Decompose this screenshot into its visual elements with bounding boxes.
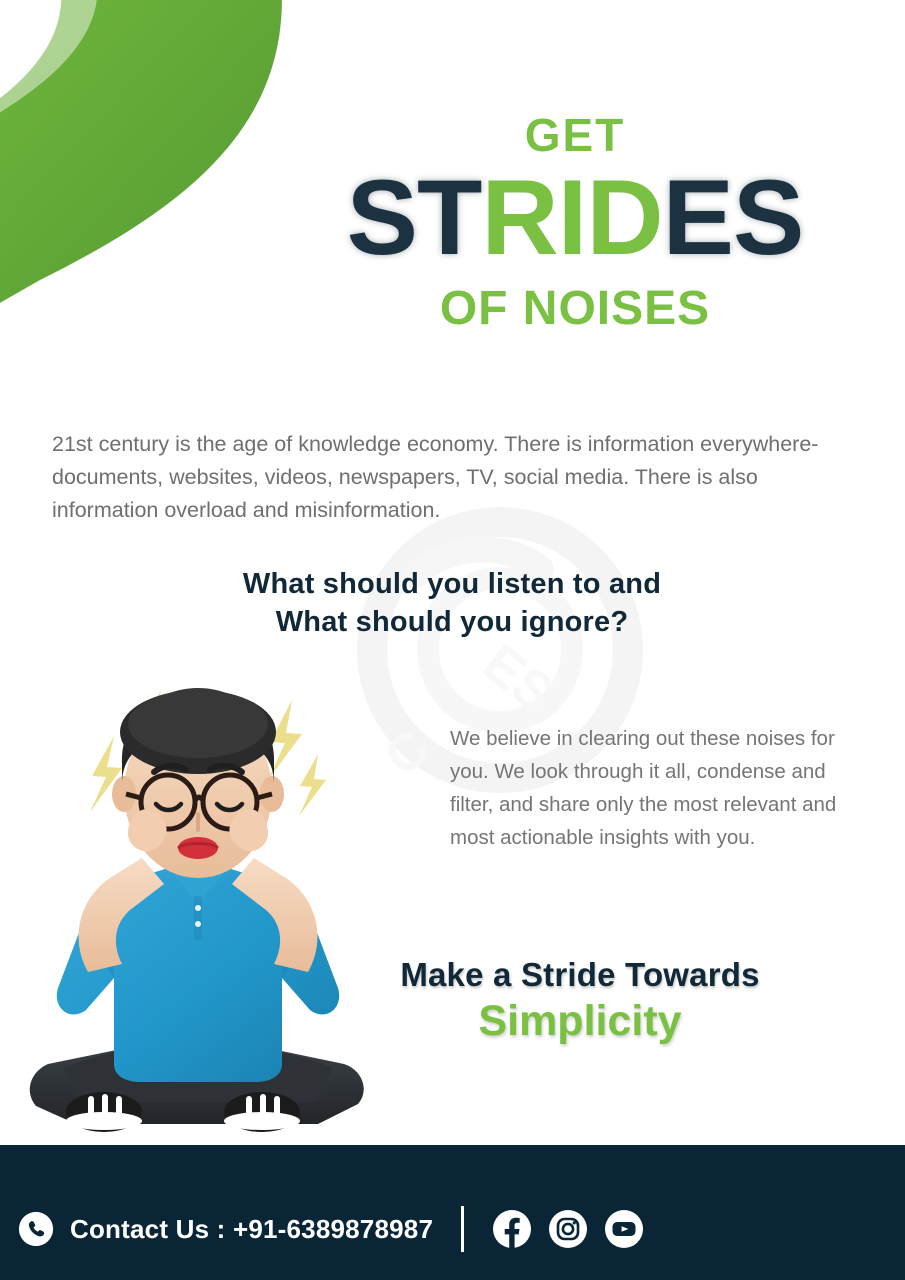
tagline-block: Make a Stride Towards Simplicity bbox=[330, 958, 830, 1044]
tagline-line-2: Simplicity bbox=[330, 999, 830, 1044]
headline-rid: RID bbox=[481, 157, 662, 277]
footer-content: Contact Us : +91-6389878987 bbox=[18, 1206, 644, 1252]
headline-es: ES bbox=[663, 157, 804, 277]
headline-get: GET bbox=[255, 112, 895, 158]
youtube-icon[interactable] bbox=[604, 1209, 644, 1249]
question-line-1: What should you listen to and bbox=[243, 568, 661, 600]
headline-strides: STRIDES bbox=[255, 164, 895, 271]
intro-paragraph: 21st century is the age of knowledge eco… bbox=[52, 428, 858, 527]
belief-paragraph: We believe in clearing out these noises … bbox=[450, 722, 860, 854]
question-line-2: What should you ignore? bbox=[52, 603, 852, 641]
social-links bbox=[492, 1209, 644, 1249]
svg-text:C: C bbox=[373, 720, 441, 787]
headline-block: GET STRIDES OF NOISES bbox=[255, 112, 895, 333]
svg-text:ES: ES bbox=[472, 633, 566, 725]
sneakers bbox=[66, 1092, 300, 1132]
contact-label: Contact Us : +91-6389878987 bbox=[70, 1214, 433, 1245]
footer-divider bbox=[461, 1206, 464, 1252]
facebook-icon[interactable] bbox=[492, 1209, 532, 1249]
poster-canvas: ES C GET STRIDES OF NOISES 21st century … bbox=[0, 0, 905, 1280]
glasses-icon bbox=[126, 775, 272, 829]
phone-icon[interactable] bbox=[18, 1211, 54, 1247]
headline-st: ST bbox=[347, 157, 482, 277]
instagram-icon[interactable] bbox=[548, 1209, 588, 1249]
lightning-bolt-icons bbox=[90, 690, 326, 816]
question-heading: What should you listen to and What shoul… bbox=[52, 565, 852, 641]
tagline-line-1: Make a Stride Towards bbox=[330, 958, 830, 993]
headline-of-noises: OF NOISES bbox=[255, 285, 895, 333]
